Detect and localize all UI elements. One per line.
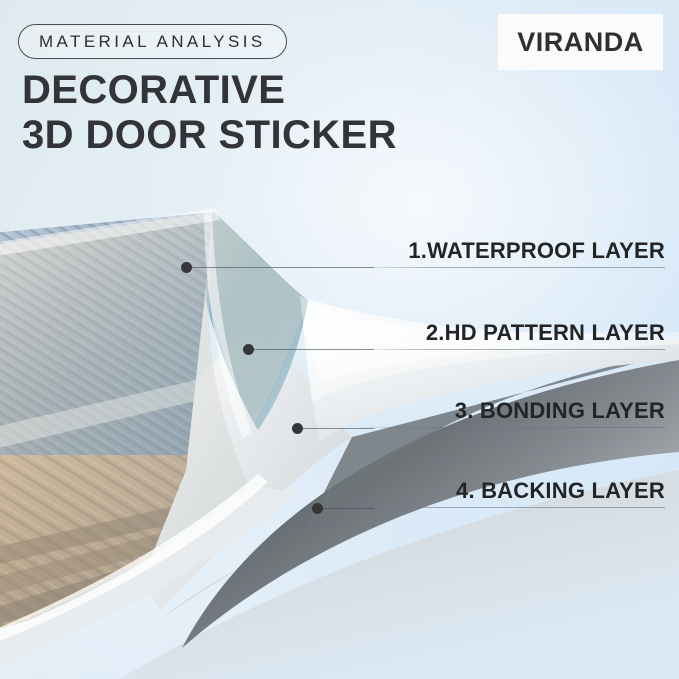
callout-rule	[365, 267, 665, 268]
title-line-1: DECORATIVE	[22, 68, 285, 112]
badge-label: MATERIAL ANALYSIS	[39, 32, 266, 52]
callout-label: 3. BONDING LAYER	[365, 398, 665, 427]
leader-line-1	[192, 267, 374, 268]
poster-root: MATERIAL ANALYSIS DECORATIVE 3D DOOR STI…	[0, 0, 679, 679]
title-line-2: 3D DOOR STICKER	[22, 113, 397, 158]
callout-backing-layer: 4. BACKING LAYER	[365, 478, 665, 508]
callout-label: 1.WATERPROOF LAYER	[365, 238, 665, 267]
leader-line-4	[323, 508, 374, 509]
brand-name: VIRANDA	[517, 27, 644, 58]
leader-dot-2	[243, 344, 254, 355]
brand-logo-box: VIRANDA	[498, 14, 663, 70]
material-analysis-badge: MATERIAL ANALYSIS	[18, 24, 287, 59]
leader-line-2	[254, 349, 374, 350]
leader-dot-3	[292, 423, 303, 434]
page-title: DECORATIVE 3D DOOR STICKER	[22, 68, 397, 158]
callout-rule	[365, 349, 665, 350]
callout-label: 4. BACKING LAYER	[365, 478, 665, 507]
callout-waterproof-layer: 1.WATERPROOF LAYER	[365, 238, 665, 268]
callout-hd-pattern-layer: 2.HD PATTERN LAYER	[365, 320, 665, 350]
callout-bonding-layer: 3. BONDING LAYER	[365, 398, 665, 428]
callout-label: 2.HD PATTERN LAYER	[365, 320, 665, 349]
callout-rule	[365, 507, 665, 508]
leader-line-3	[303, 428, 374, 429]
leader-dot-1	[181, 262, 192, 273]
callout-rule	[365, 427, 665, 428]
leader-dot-4	[312, 503, 323, 514]
